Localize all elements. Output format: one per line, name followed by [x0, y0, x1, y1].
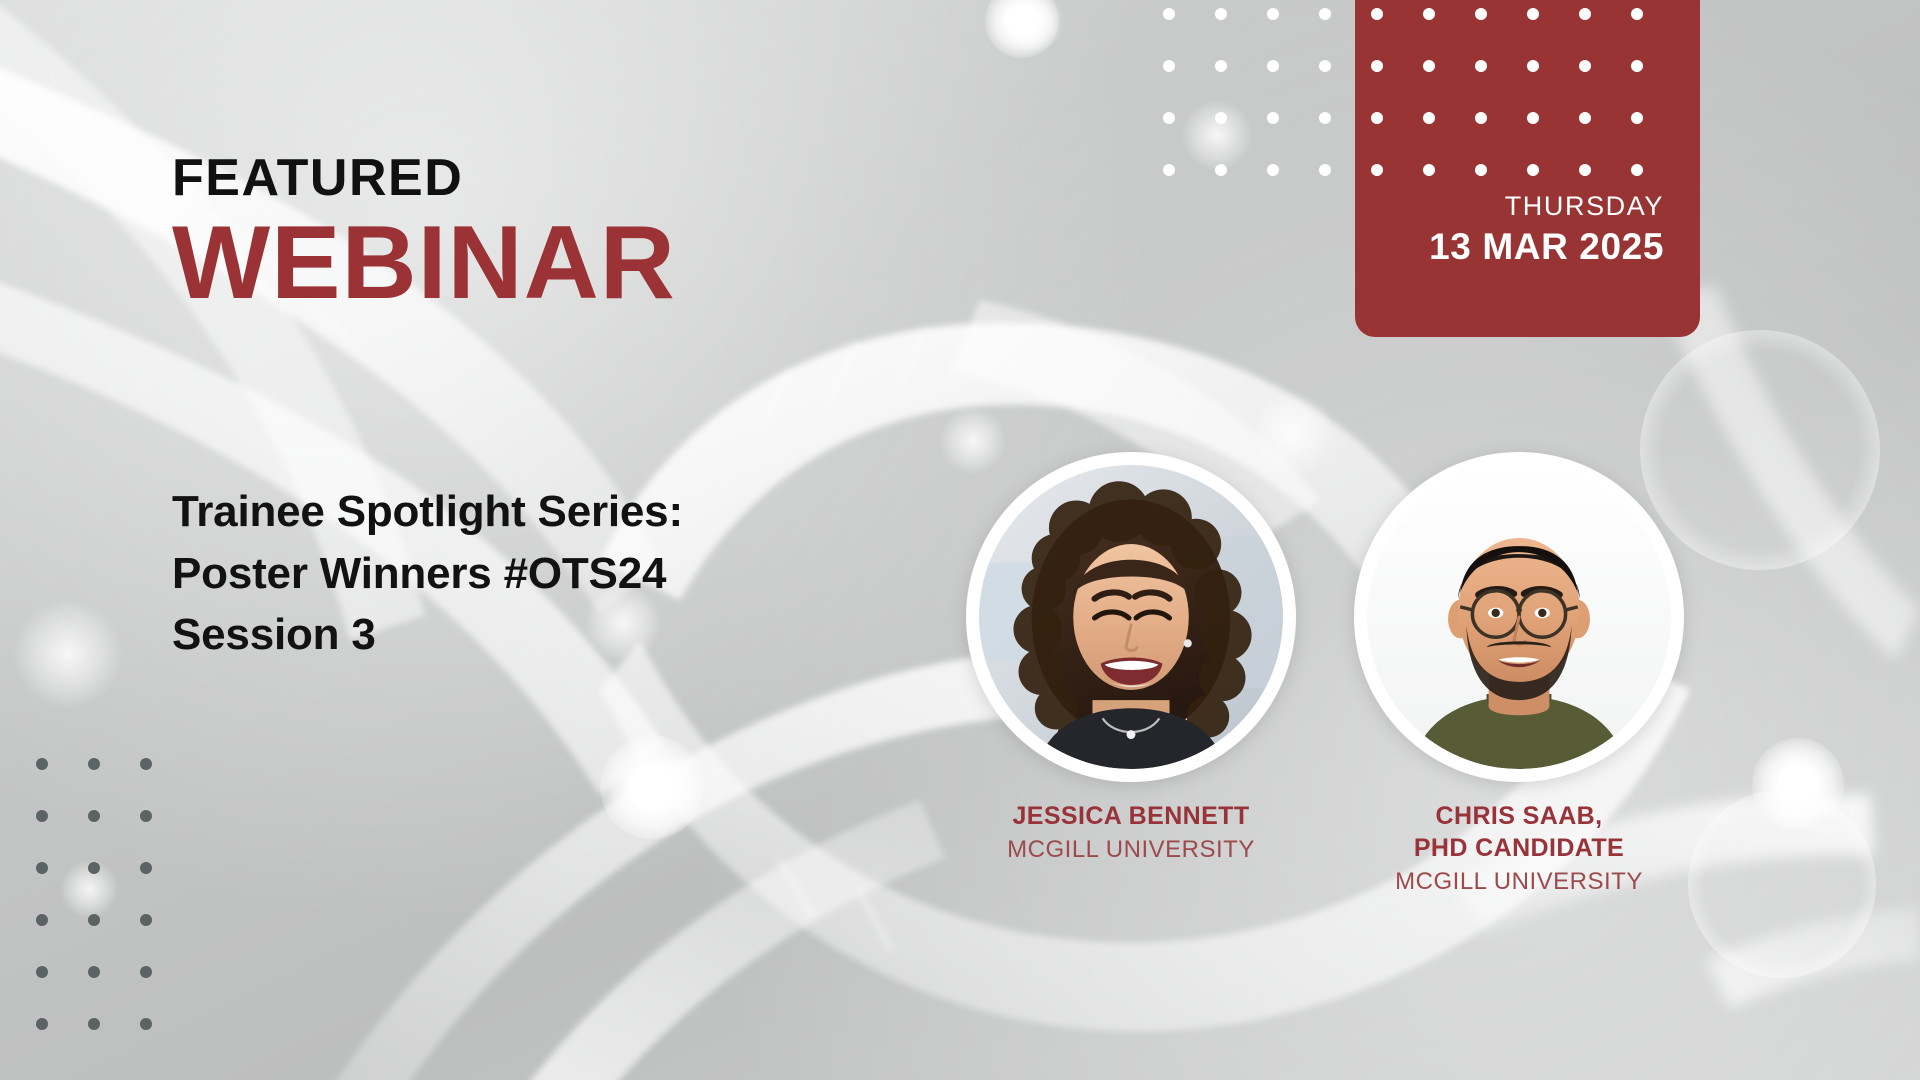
speaker-name: JESSICA BENNETT — [966, 800, 1296, 832]
dot — [1475, 164, 1487, 176]
dot — [1215, 60, 1227, 72]
dot — [1215, 8, 1227, 20]
dot — [140, 758, 152, 770]
dot — [1527, 164, 1539, 176]
dot — [88, 1018, 100, 1030]
speaker-caption: CHRIS SAAB, PHD CANDIDATE MCGILL UNIVERS… — [1354, 800, 1684, 898]
dot — [1267, 112, 1279, 124]
avatar — [1354, 452, 1684, 782]
eyebrow-featured: FEATURED — [172, 152, 676, 204]
dot-grid-bottom — [16, 738, 172, 1050]
speaker-name-line: CHRIS SAAB, — [1354, 800, 1684, 832]
dot — [1371, 112, 1383, 124]
dot — [140, 966, 152, 978]
dot — [88, 966, 100, 978]
dot — [88, 914, 100, 926]
dot — [1371, 8, 1383, 20]
dot — [1267, 60, 1279, 72]
headline-block: FEATURED WEBINAR — [172, 152, 676, 316]
dot — [1423, 60, 1435, 72]
speaker-card: CHRIS SAAB, PHD CANDIDATE MCGILL UNIVERS… — [1354, 452, 1684, 898]
dot — [36, 862, 48, 874]
dot — [1423, 164, 1435, 176]
dot — [1631, 112, 1643, 124]
dot — [140, 914, 152, 926]
date-full: 13 MAR 2025 — [1429, 224, 1664, 269]
session-title-line: Trainee Spotlight Series: — [172, 481, 912, 543]
dot — [140, 1018, 152, 1030]
dot — [1527, 8, 1539, 20]
dot — [1267, 164, 1279, 176]
dot — [36, 966, 48, 978]
dot — [1267, 8, 1279, 20]
speaker-card: JESSICA BENNETT MCGILL UNIVERSITY — [966, 452, 1296, 866]
speaker-name-line: JESSICA BENNETT — [966, 800, 1296, 832]
dot — [1579, 112, 1591, 124]
speaker-caption: JESSICA BENNETT MCGILL UNIVERSITY — [966, 800, 1296, 866]
dot — [1319, 60, 1331, 72]
dot — [1163, 8, 1175, 20]
dot — [1371, 164, 1383, 176]
dot — [1163, 164, 1175, 176]
dot — [1527, 112, 1539, 124]
speaker-name: CHRIS SAAB, PHD CANDIDATE — [1354, 800, 1684, 864]
dot — [1319, 112, 1331, 124]
dot — [1215, 112, 1227, 124]
dot — [1475, 60, 1487, 72]
dot — [1475, 8, 1487, 20]
dot — [88, 810, 100, 822]
dot — [1163, 112, 1175, 124]
speaker-name-line: PHD CANDIDATE — [1354, 832, 1684, 864]
session-title: Trainee Spotlight Series: Poster Winners… — [172, 481, 912, 666]
dot — [1579, 164, 1591, 176]
dot — [36, 810, 48, 822]
dot — [1631, 164, 1643, 176]
dot — [1475, 112, 1487, 124]
dot — [1319, 8, 1331, 20]
dot — [1423, 8, 1435, 20]
webinar-promo-canvas: THURSDAY 13 MAR 2025 FEATURED WEBINAR Tr… — [0, 0, 1920, 1080]
dot — [1215, 164, 1227, 176]
session-title-line: Session 3 — [172, 604, 912, 666]
dot-grid-top — [1143, 0, 1663, 196]
dot — [88, 862, 100, 874]
avatar — [966, 452, 1296, 782]
dot — [1631, 8, 1643, 20]
dot — [1579, 60, 1591, 72]
dot — [1579, 8, 1591, 20]
dot — [1319, 164, 1331, 176]
dot — [140, 810, 152, 822]
dot — [36, 1018, 48, 1030]
dot — [1371, 60, 1383, 72]
headline-webinar: WEBINAR — [172, 210, 676, 316]
avatar-photo-jessica-bennett — [979, 465, 1283, 769]
dot — [1163, 60, 1175, 72]
dot — [36, 758, 48, 770]
dot — [140, 862, 152, 874]
dot — [1631, 60, 1643, 72]
dot — [1423, 112, 1435, 124]
dot — [88, 758, 100, 770]
dot — [1527, 60, 1539, 72]
speaker-affiliation: MCGILL UNIVERSITY — [966, 835, 1296, 866]
dot — [36, 914, 48, 926]
avatar-photo-chris-saab — [1367, 465, 1671, 769]
date-badge-text: THURSDAY 13 MAR 2025 — [1429, 190, 1664, 269]
session-title-line: Poster Winners #OTS24 — [172, 543, 912, 605]
speaker-affiliation: MCGILL UNIVERSITY — [1354, 867, 1684, 898]
